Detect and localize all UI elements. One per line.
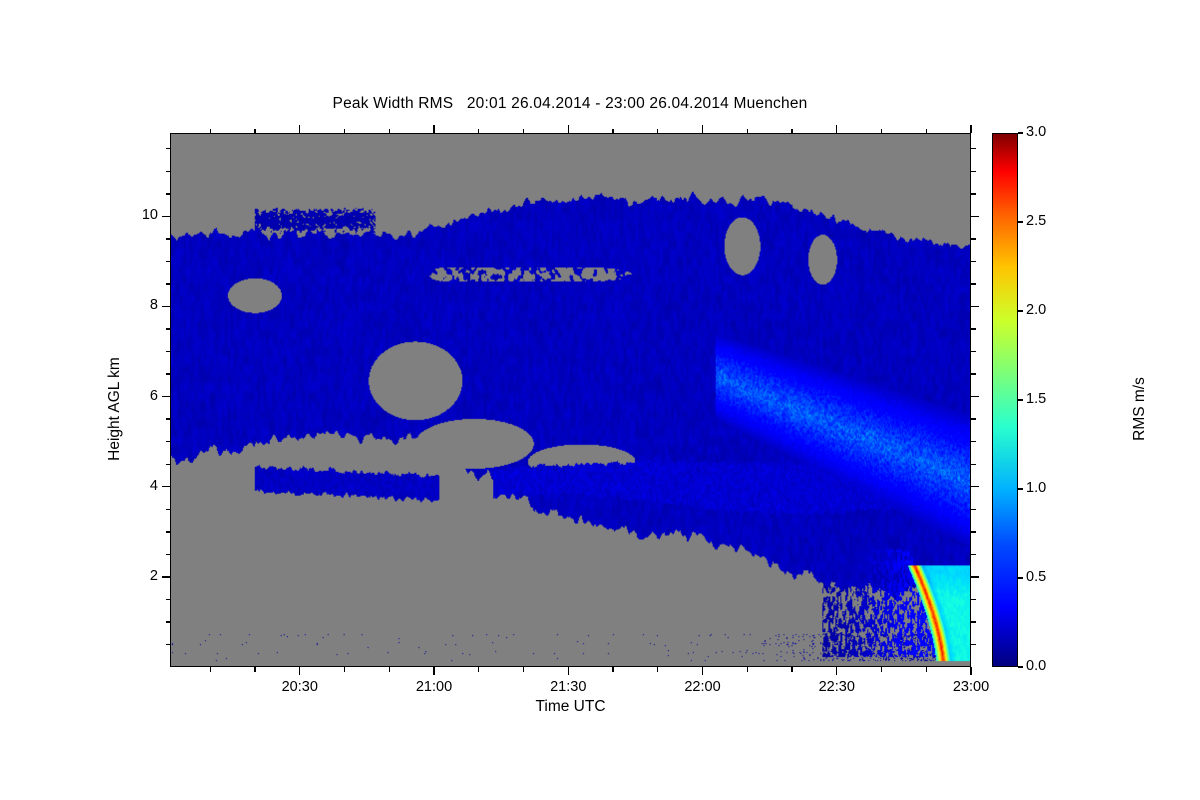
y-tick [971, 599, 976, 600]
colorbar-label: RMS m/s [1131, 309, 1149, 509]
y-tick [166, 621, 171, 622]
figure-root: Peak Width RMS 20:01 26.04.2014 - 23:00 … [0, 0, 1200, 800]
colorbar-gradient [993, 134, 1017, 666]
colorbar-tick-label: 1.0 [1026, 480, 1046, 496]
y-tick [971, 644, 976, 645]
colorbar-tick [1018, 577, 1023, 578]
y-tick [166, 531, 171, 532]
y-tick [162, 576, 170, 577]
y-tick [166, 373, 171, 374]
x-tick-label: 22:30 [792, 679, 882, 695]
x-tick [881, 667, 882, 672]
x-tick [747, 667, 748, 672]
x-tick [970, 667, 971, 675]
y-tick [166, 171, 171, 172]
x-tick [926, 129, 927, 134]
y-tick [971, 554, 976, 555]
y-tick [166, 644, 171, 645]
x-tick [299, 667, 300, 675]
y-tick [166, 441, 171, 442]
plot-area [170, 133, 971, 667]
x-tick [433, 667, 434, 675]
y-tick [166, 148, 171, 149]
y-tick [166, 238, 171, 239]
colorbar-tick [1018, 310, 1023, 311]
y-tick [971, 576, 979, 577]
y-tick [166, 328, 171, 329]
chart-title: Peak Width RMS 20:01 26.04.2014 - 23:00 … [0, 95, 1140, 113]
y-tick [971, 148, 976, 149]
y-tick [971, 193, 976, 194]
x-tick [657, 129, 658, 134]
x-tick [433, 125, 434, 133]
x-tick [970, 125, 971, 133]
x-tick [612, 129, 613, 134]
y-tick [971, 486, 979, 487]
x-tick [702, 667, 703, 675]
colorbar-tick-label: 1.5 [1026, 391, 1046, 407]
y-tick [166, 464, 171, 465]
y-tick [166, 509, 171, 510]
heatmap-canvas [171, 134, 970, 666]
y-tick [971, 283, 976, 284]
y-tick [971, 216, 979, 217]
x-tick [612, 667, 613, 672]
x-tick [702, 125, 703, 133]
y-tick [971, 238, 976, 239]
x-tick [299, 125, 300, 133]
y-tick [971, 464, 976, 465]
x-tick [836, 667, 837, 675]
colorbar-tick [1018, 399, 1023, 400]
colorbar-tick-label: 3.0 [1026, 124, 1046, 140]
y-tick [971, 531, 976, 532]
y-tick [971, 306, 979, 307]
y-tick-label: 10 [98, 207, 158, 223]
x-tick [791, 667, 792, 672]
y-tick [971, 509, 976, 510]
y-tick [162, 486, 170, 487]
x-tick [747, 129, 748, 134]
y-axis-label: Height AGL km [106, 289, 124, 529]
y-tick [971, 171, 976, 172]
x-tick-label: 23:00 [926, 679, 1016, 695]
y-tick [166, 261, 171, 262]
y-tick [166, 418, 171, 419]
y-tick [162, 396, 170, 397]
y-tick [166, 599, 171, 600]
x-tick [478, 129, 479, 134]
y-tick [971, 396, 979, 397]
x-tick [836, 125, 837, 133]
x-tick [344, 667, 345, 672]
y-tick [166, 283, 171, 284]
x-tick [210, 129, 211, 134]
y-tick [971, 373, 976, 374]
colorbar-tick [1018, 132, 1023, 133]
colorbar-tick-label: 0.0 [1026, 658, 1046, 674]
x-tick-label: 21:30 [523, 679, 613, 695]
y-tick [971, 261, 976, 262]
y-tick [166, 351, 171, 352]
x-tick [254, 129, 255, 134]
x-tick [523, 667, 524, 672]
colorbar-tick-label: 0.5 [1026, 569, 1046, 585]
x-tick [568, 125, 569, 133]
y-tick [971, 351, 976, 352]
x-tick [926, 667, 927, 672]
y-tick [162, 216, 170, 217]
y-tick [166, 554, 171, 555]
x-tick-label: 22:00 [658, 679, 748, 695]
x-axis-label: Time UTC [170, 698, 971, 716]
x-tick [254, 667, 255, 672]
colorbar-tick [1018, 666, 1023, 667]
y-tick-label: 2 [98, 568, 158, 584]
x-tick [210, 667, 211, 672]
y-tick [971, 328, 976, 329]
y-tick [971, 418, 976, 419]
colorbar [992, 133, 1018, 667]
x-tick [389, 667, 390, 672]
y-tick [971, 441, 976, 442]
x-tick-label: 21:00 [389, 679, 479, 695]
x-tick [657, 667, 658, 672]
y-tick [166, 193, 171, 194]
y-tick [162, 306, 170, 307]
x-tick [478, 667, 479, 672]
x-tick [344, 129, 345, 134]
x-tick [791, 129, 792, 134]
colorbar-tick-label: 2.5 [1026, 213, 1046, 229]
x-tick [523, 129, 524, 134]
x-tick-label: 20:30 [255, 679, 345, 695]
colorbar-tick [1018, 488, 1023, 489]
colorbar-tick [1018, 221, 1023, 222]
x-tick [568, 667, 569, 675]
colorbar-tick-label: 2.0 [1026, 302, 1046, 318]
x-tick [389, 129, 390, 134]
y-tick [971, 621, 976, 622]
x-tick [881, 129, 882, 134]
